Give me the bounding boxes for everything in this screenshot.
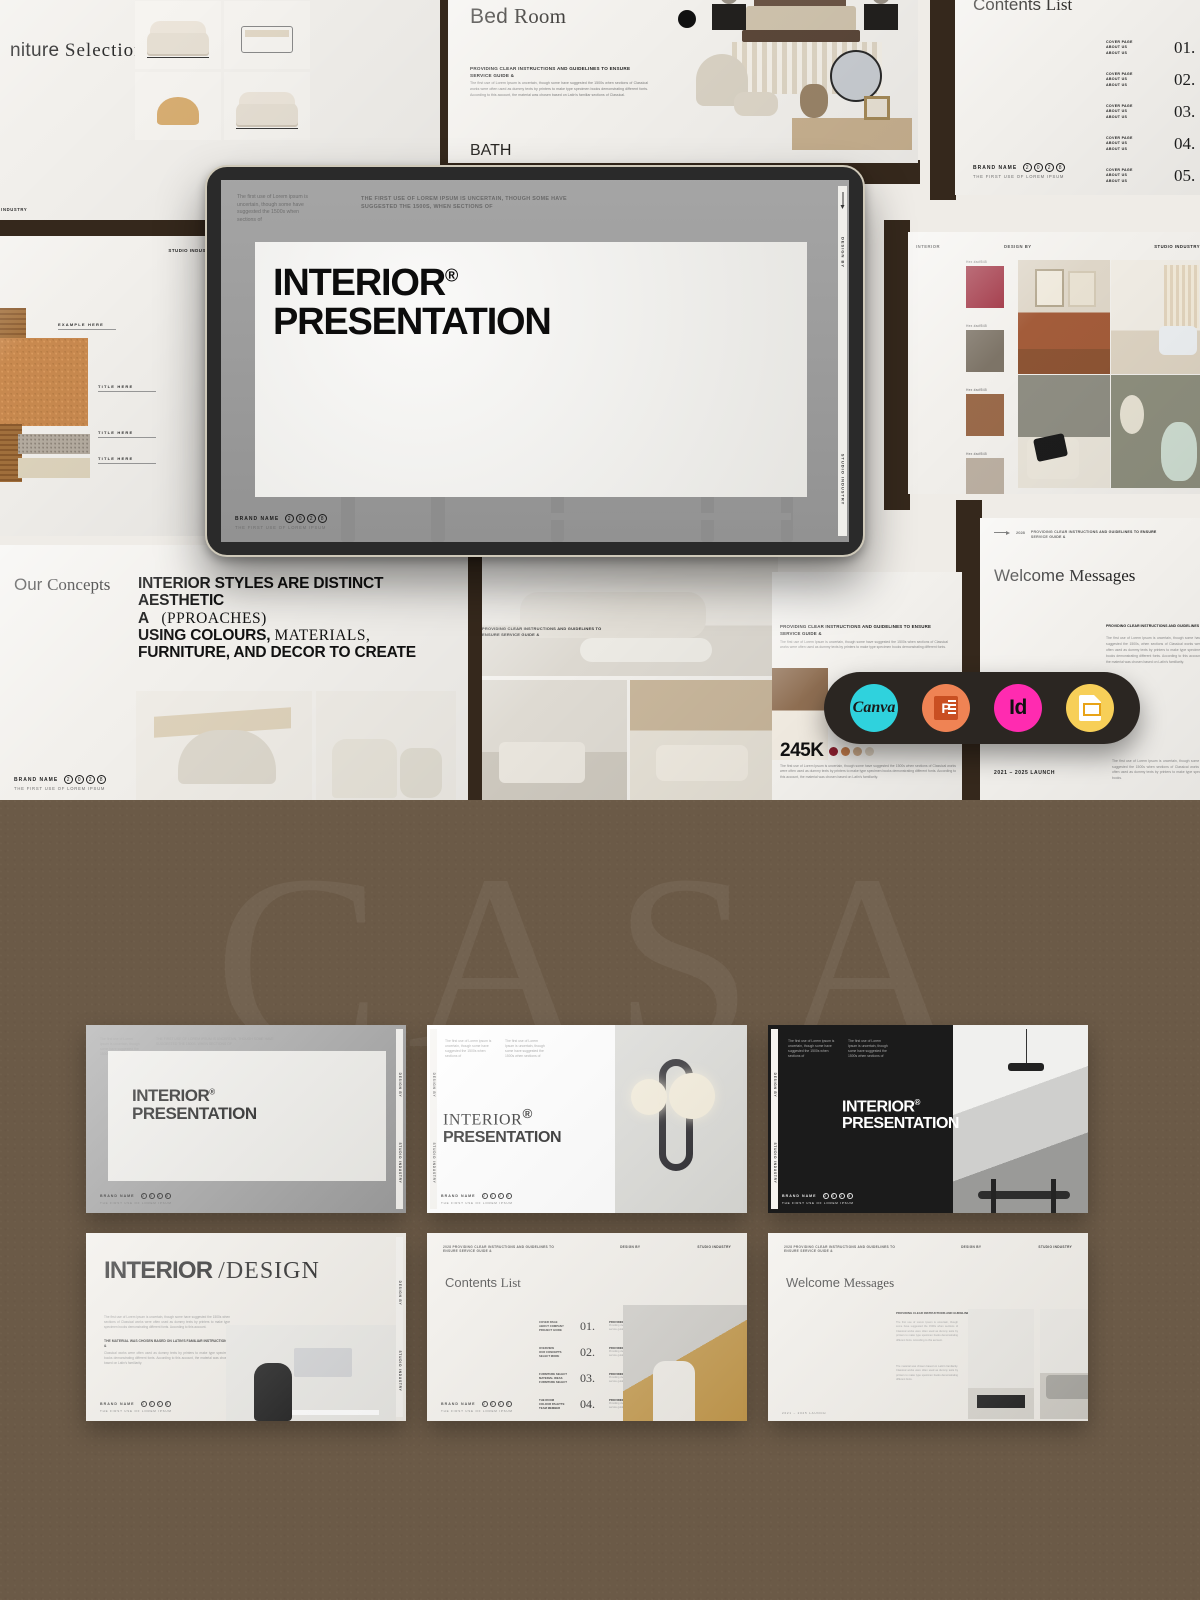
- brand-lockup: BRAND NAME 2028 THE FIRST USE OF LOREM I…: [235, 514, 327, 530]
- powerpoint-icon[interactable]: P: [922, 684, 970, 732]
- swatch-item: Hex #adf545: [966, 324, 1006, 372]
- thumb-topline: 2028 PROVIDING CLEAR INSTRUCTIONS AND GU…: [443, 1245, 731, 1253]
- contents-row: COVER PAGE ABOUT US ABOUT US02.: [1054, 64, 1200, 96]
- bedroom-body: The first use of Lorem Ipsum is uncertai…: [470, 81, 648, 99]
- thumb-title: INTERIOR® PRESENTATION: [842, 1099, 959, 1133]
- thumbnail-interior-design[interactable]: INTERIOR /DESIGN The first use of Lorem …: [86, 1233, 406, 1421]
- slide-colour-palette[interactable]: INTERIOR DESIGN BY STUDIO INDUSTRY Hex #…: [908, 232, 1200, 494]
- thumb-body-2: Classical works were often used as dummy…: [104, 1351, 230, 1366]
- arrow-right-icon: [994, 530, 1010, 535]
- canva-icon[interactable]: Canva: [850, 684, 898, 732]
- thumb-desk-photo: [226, 1325, 396, 1421]
- living-room-photo: [630, 680, 779, 800]
- brand-lockup: BRAND NAME 2028 THE FIRST USE OF LOREM I…: [782, 1193, 854, 1205]
- brand-lockup: BRAND NAME 2028 THE FIRST USE OF LOREM I…: [441, 1401, 513, 1413]
- thumbnail-cover-black[interactable]: The first use of Lorem ipsum is uncertai…: [768, 1025, 1088, 1213]
- office-chair-icon: [254, 1363, 292, 1421]
- concepts-title: Our Concepts: [14, 575, 110, 595]
- thumbnail-contents-list[interactable]: 2028 PROVIDING CLEAR INSTRUCTIONS AND GU…: [427, 1233, 747, 1421]
- app-compatibility-pill: Canva P Id: [824, 672, 1140, 744]
- thumb-portrait-photo: [623, 1305, 747, 1421]
- thumb-side-rail: DESIGN BYSTUDIO INDUSTRY: [396, 1237, 403, 1417]
- hero-note-center: THE FIRST USE OF LOREM IPSUM IS UNCERTAI…: [361, 196, 581, 212]
- furniture-cell: [224, 1, 310, 69]
- hero-title: INTERIOR® PRESENTATION: [273, 264, 551, 342]
- thumb-note-right: The first use of Lorem Ipsum is uncertai…: [505, 1039, 545, 1059]
- slide-contents-list[interactable]: Contents List COVER PAGE ABOUT US ABOUT …: [955, 0, 1200, 195]
- contents-row: COVER PAGE ABOUT US ABOUT US05.: [1054, 160, 1200, 192]
- welcome-launch-label: 2021 – 2025 LAUNCH: [994, 770, 1055, 776]
- thumb-col-body: The first use of Lorem Ipsum is uncertai…: [896, 1321, 958, 1343]
- slide-materials[interactable]: STUDIO INDUSTRY EXAMPLE HERE TITLE HERE …: [0, 236, 230, 536]
- welcome-title: Welcome Messages: [994, 566, 1135, 586]
- dark-divider-3: [884, 220, 910, 510]
- hero-side-bottom: STUDIO INDUSTRY: [840, 454, 845, 506]
- thumb-console-photo: [968, 1309, 1034, 1419]
- tablet-mockup[interactable]: The first use of Lorem ipsum is uncertai…: [205, 165, 865, 557]
- concept-photo: [316, 691, 456, 800]
- brand-lockup: 2021 – 2025 LAUNCH: [782, 1409, 826, 1415]
- thumb-dining-photo: [953, 1025, 1088, 1213]
- room-photo: [1111, 375, 1200, 489]
- thumb-title: INTERIOR /DESIGN: [104, 1257, 320, 1285]
- tablet-screen[interactable]: The first use of Lorem ipsum is uncertai…: [221, 180, 849, 542]
- palette-header-center: DESIGN BY: [1004, 244, 1032, 249]
- pendant-lamp-icon: [1008, 1063, 1044, 1071]
- welcome-col-heading: PROVIDING CLEAR INSTRUCTIONS AND GUIDELI…: [1106, 624, 1199, 628]
- swatch-item: Hex #adf545: [966, 388, 1006, 436]
- poster-canvas: niture Selection STUDIO INDUSTRY Bed Roo…: [0, 0, 1200, 1600]
- furniture-grid: [135, 0, 310, 140]
- contents-title: Contents List: [973, 0, 1072, 15]
- thumb-lamp-photo: [615, 1025, 747, 1213]
- collage-section: niture Selection STUDIO INDUSTRY Bed Roo…: [0, 0, 1200, 800]
- thumb-side-rail: DESIGN BYSTUDIO INDUSTRY: [771, 1029, 778, 1209]
- room-photo: [1018, 260, 1110, 374]
- swatch-column: Hex #adf545 Hex #adf545 Hex #adf545 Hex …: [966, 260, 1006, 494]
- furniture-title: niture Selection: [10, 40, 145, 62]
- thumb-title: Welcome Messages: [786, 1275, 894, 1291]
- thumb-title: Contents List: [445, 1275, 521, 1291]
- concept-photo: [136, 691, 312, 800]
- living-room-photo: [478, 680, 627, 800]
- furniture-cell: [224, 72, 310, 140]
- room-photo: [1018, 375, 1110, 489]
- google-slides-icon[interactable]: [1066, 684, 1114, 732]
- thumb-heading: THE MATERIAL WAS CHOSEN BASED ON LATIN'S…: [104, 1339, 230, 1349]
- living-room-caption: PROVIDING CLEAR INSTRUCTIONS AND GUIDELI…: [482, 626, 612, 638]
- material-swatch-grey: [18, 434, 90, 454]
- stats-heading: PROVIDING CLEAR INSTRUCTIONS AND GUIDELI…: [780, 624, 948, 637]
- concepts-photos: [136, 691, 456, 800]
- contents-row: COVER PAGE ABOUT US ABOUT US04.: [1054, 128, 1200, 160]
- material-label: EXAMPLE HERE: [58, 322, 116, 330]
- dark-divider-2: [930, 0, 956, 200]
- material-label: TITLE HERE: [98, 430, 156, 438]
- material-swatch-sand: [18, 458, 90, 478]
- slide-our-concepts[interactable]: Our Concepts INTERIOR STYLES ARE DISTINC…: [0, 545, 470, 800]
- furniture-studio-tag: STUDIO INDUSTRY: [0, 207, 27, 212]
- arrow-down-icon: [842, 192, 843, 206]
- dark-divider-4: [468, 520, 482, 800]
- thumb-title: INTERIOR® PRESENTATION: [132, 1087, 257, 1122]
- thumb-lounge-photo: [1040, 1309, 1088, 1419]
- brand-lockup: BRAND NAME 2028 THE FIRST USE OF LOREM I…: [100, 1193, 172, 1205]
- bedroom-next-title: BATH: [470, 142, 511, 160]
- brand-lockup: BRAND NAME 2028 THE FIRST USE OF LOREM I…: [14, 775, 106, 791]
- thumb-note-left: The first use of Lorem ipsum is uncertai…: [788, 1039, 840, 1059]
- thumbnail-grid: The first use of Lorem ipsum is uncertai…: [86, 1025, 1096, 1421]
- thumbnail-cover-white[interactable]: The first use of Lorem ipsum is uncertai…: [427, 1025, 747, 1213]
- material-swatch-cork: [0, 338, 88, 426]
- slide-living-room[interactable]: PROVIDING CLEAR INSTRUCTIONS AND GUIDELI…: [478, 548, 778, 800]
- welcome-year: 2028: [1016, 530, 1025, 535]
- furniture-cell: [135, 1, 221, 69]
- concepts-statement: INTERIOR STYLES ARE DISTINCT AESTHETIC A…: [138, 575, 418, 662]
- thumb-note-right: THE FIRST USE OF LOREM IPSUM IS UNCERTAI…: [156, 1037, 276, 1047]
- living-room-photo: [478, 556, 778, 676]
- swatch-item: Hex #adf545: [966, 452, 1006, 494]
- material-label: TITLE HERE: [98, 384, 156, 392]
- thumb-col-body-2: The material was chosen based on Latin's…: [896, 1365, 958, 1383]
- brand-lockup: BRAND NAME 2028 THE FIRST USE OF LOREM I…: [100, 1401, 172, 1413]
- swatch-item: Hex #adf545: [966, 260, 1006, 308]
- room-photo-grid: [1018, 260, 1200, 488]
- contents-row: COVER PAGE ABOUT US ABOUT US01.: [1054, 32, 1200, 64]
- slide-bedroom[interactable]: Bed Room PROVIDING CLEAR INSTRUCTIONS AN…: [448, 0, 918, 163]
- thumbnail-welcome-messages[interactable]: 2028 PROVIDING CLEAR INSTRUCTIONS AND GU…: [768, 1233, 1088, 1421]
- black-dot-accent: [678, 10, 696, 28]
- stats-body: The first use of Lorem Ipsum is uncertai…: [780, 640, 948, 651]
- hero-note-left: The first use of Lorem ipsum is uncertai…: [237, 194, 311, 224]
- welcome-col-body: The first use of Lorem Ipsum is uncertai…: [1106, 636, 1200, 666]
- bedroom-title: Bed Room: [470, 4, 566, 29]
- thumb-body: The first use of Lorem Ipsum is uncertai…: [104, 1315, 230, 1330]
- stat-colour-dots: [829, 747, 874, 756]
- living-room-photo-pair: [478, 680, 778, 800]
- welcome-col-body-2: The first use of Lorem Ipsum is uncertai…: [1112, 759, 1200, 782]
- thumbnail-cover-grey[interactable]: The first use of Lorem ipsum is uncertai…: [86, 1025, 406, 1213]
- slide-welcome-messages[interactable]: 2028 PROVIDING CLEAR INSTRUCTIONS AND GU…: [980, 518, 1200, 800]
- thumb-col-heading: PROVIDING CLEAR INSTRUCTIONS AND GUIDELI…: [896, 1311, 971, 1315]
- welcome-topbar: 2028 PROVIDING CLEAR INSTRUCTIONS AND GU…: [994, 530, 1159, 541]
- furniture-cell: [135, 72, 221, 140]
- indesign-icon[interactable]: Id: [994, 684, 1042, 732]
- bedroom-moodboard: [672, 0, 912, 151]
- palette-header-right: STUDIO INDUSTRY: [1154, 244, 1200, 249]
- palette-header-left: INTERIOR: [916, 244, 940, 249]
- material-label: TITLE HERE: [98, 456, 156, 464]
- thumb-side-rail: DESIGN BYSTUDIO INDUSTRY: [396, 1029, 403, 1209]
- contents-row: COVER PAGE ABOUT US ABOUT US03.: [1054, 96, 1200, 128]
- welcome-header: PROVIDING CLEAR INSTRUCTIONS AND GUIDELI…: [1031, 530, 1159, 541]
- hero-side-rail: DESIGN BY STUDIO INDUSTRY: [838, 186, 847, 536]
- stats-body-2: The first use of Lorem Ipsum is uncertai…: [780, 764, 956, 780]
- bedroom-heading: PROVIDING CLEAR INSTRUCTIONS AND GUIDELI…: [470, 66, 645, 80]
- thumb-note-left: The first use of Lorem ipsum is uncertai…: [445, 1039, 497, 1059]
- brand-lockup: BRAND NAME 2028 THE FIRST USE OF LOREM I…: [973, 163, 1065, 179]
- hero-side-top: DESIGN BY: [840, 237, 845, 268]
- stat-number: 245K: [780, 740, 823, 762]
- thumb-note-right: The first use of Lorem Ipsum is uncertai…: [848, 1039, 888, 1059]
- brand-lockup: BRAND NAME 2028 THE FIRST USE OF LOREM I…: [441, 1193, 513, 1205]
- contents-rows: COVER PAGE ABOUT US ABOUT US01. COVER PA…: [1054, 32, 1200, 192]
- room-photo: [1111, 260, 1200, 374]
- thumb-topline: 2028 PROVIDING CLEAR INSTRUCTIONS AND GU…: [784, 1245, 1072, 1253]
- thumb-side-rail: DESIGN BYSTUDIO INDUSTRY: [430, 1029, 437, 1209]
- thumbnail-section: CASA The first use of Lorem ipsum is unc…: [0, 800, 1200, 1600]
- thumb-title: INTERIOR® PRESENTATION: [443, 1107, 561, 1146]
